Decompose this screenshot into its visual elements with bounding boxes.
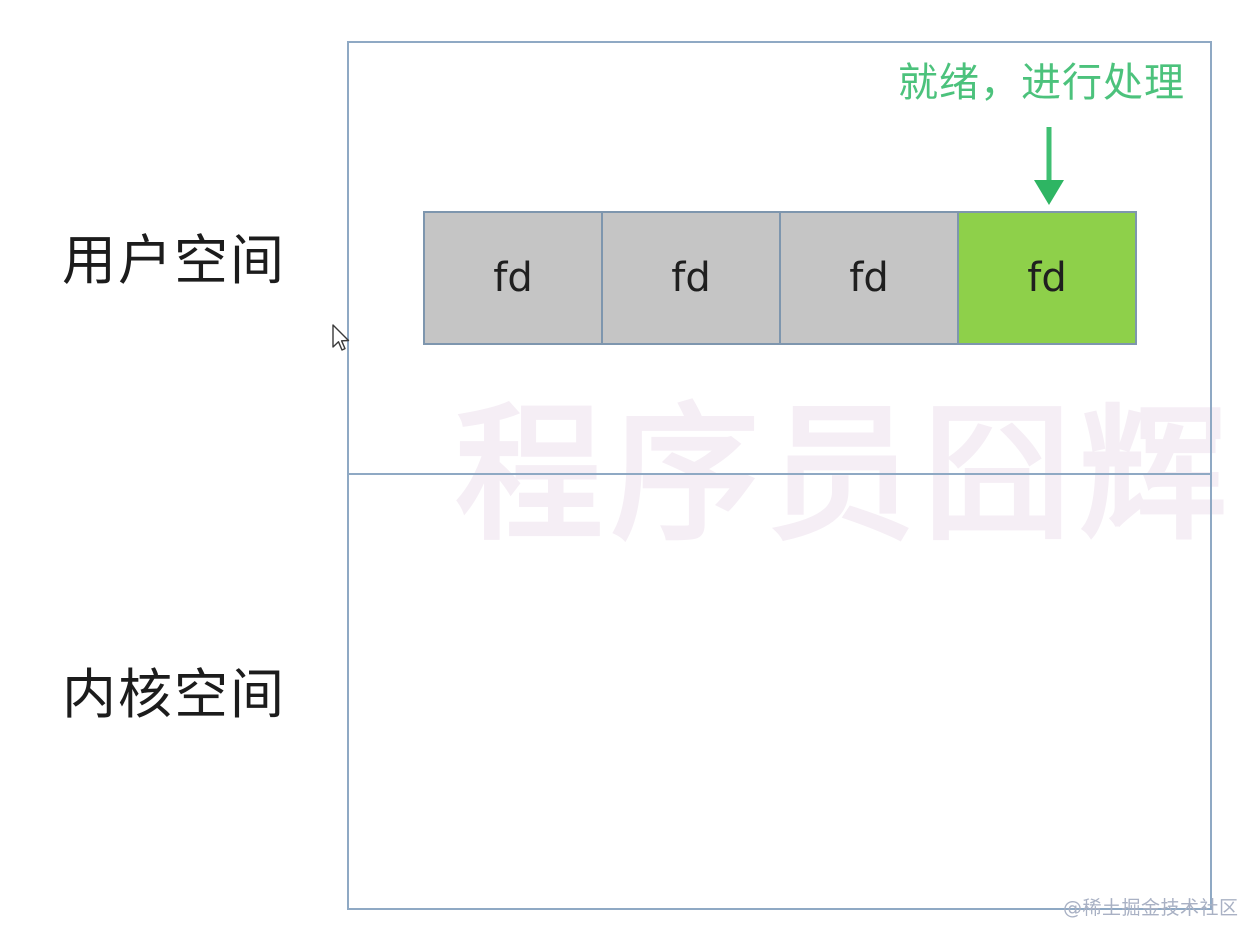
region-label-user-space: 用户空间 (62, 234, 286, 288)
corner-watermark: @稀土掘金技术社区 (1063, 899, 1239, 918)
fd-box-2[interactable]: fd (601, 211, 781, 345)
diagram-canvas: 程序员囧辉 用户空间 内核空间 fd fd fd fd 就绪，进行处理 @稀土掘… (0, 0, 1250, 946)
ready-annotation-text: 就绪，进行处理 (898, 63, 1185, 103)
diagram-outer-frame (347, 41, 1212, 910)
mouse-pointer-icon (331, 324, 351, 352)
fd-list: fd fd fd fd (423, 211, 1137, 345)
region-label-kernel-space: 内核空间 (62, 668, 286, 722)
fd-box-1[interactable]: fd (423, 211, 603, 345)
user-kernel-divider (347, 473, 1212, 475)
fd-box-3[interactable]: fd (779, 211, 959, 345)
down-arrow-icon (1020, 125, 1080, 210)
fd-box-4-ready[interactable]: fd (957, 211, 1137, 345)
